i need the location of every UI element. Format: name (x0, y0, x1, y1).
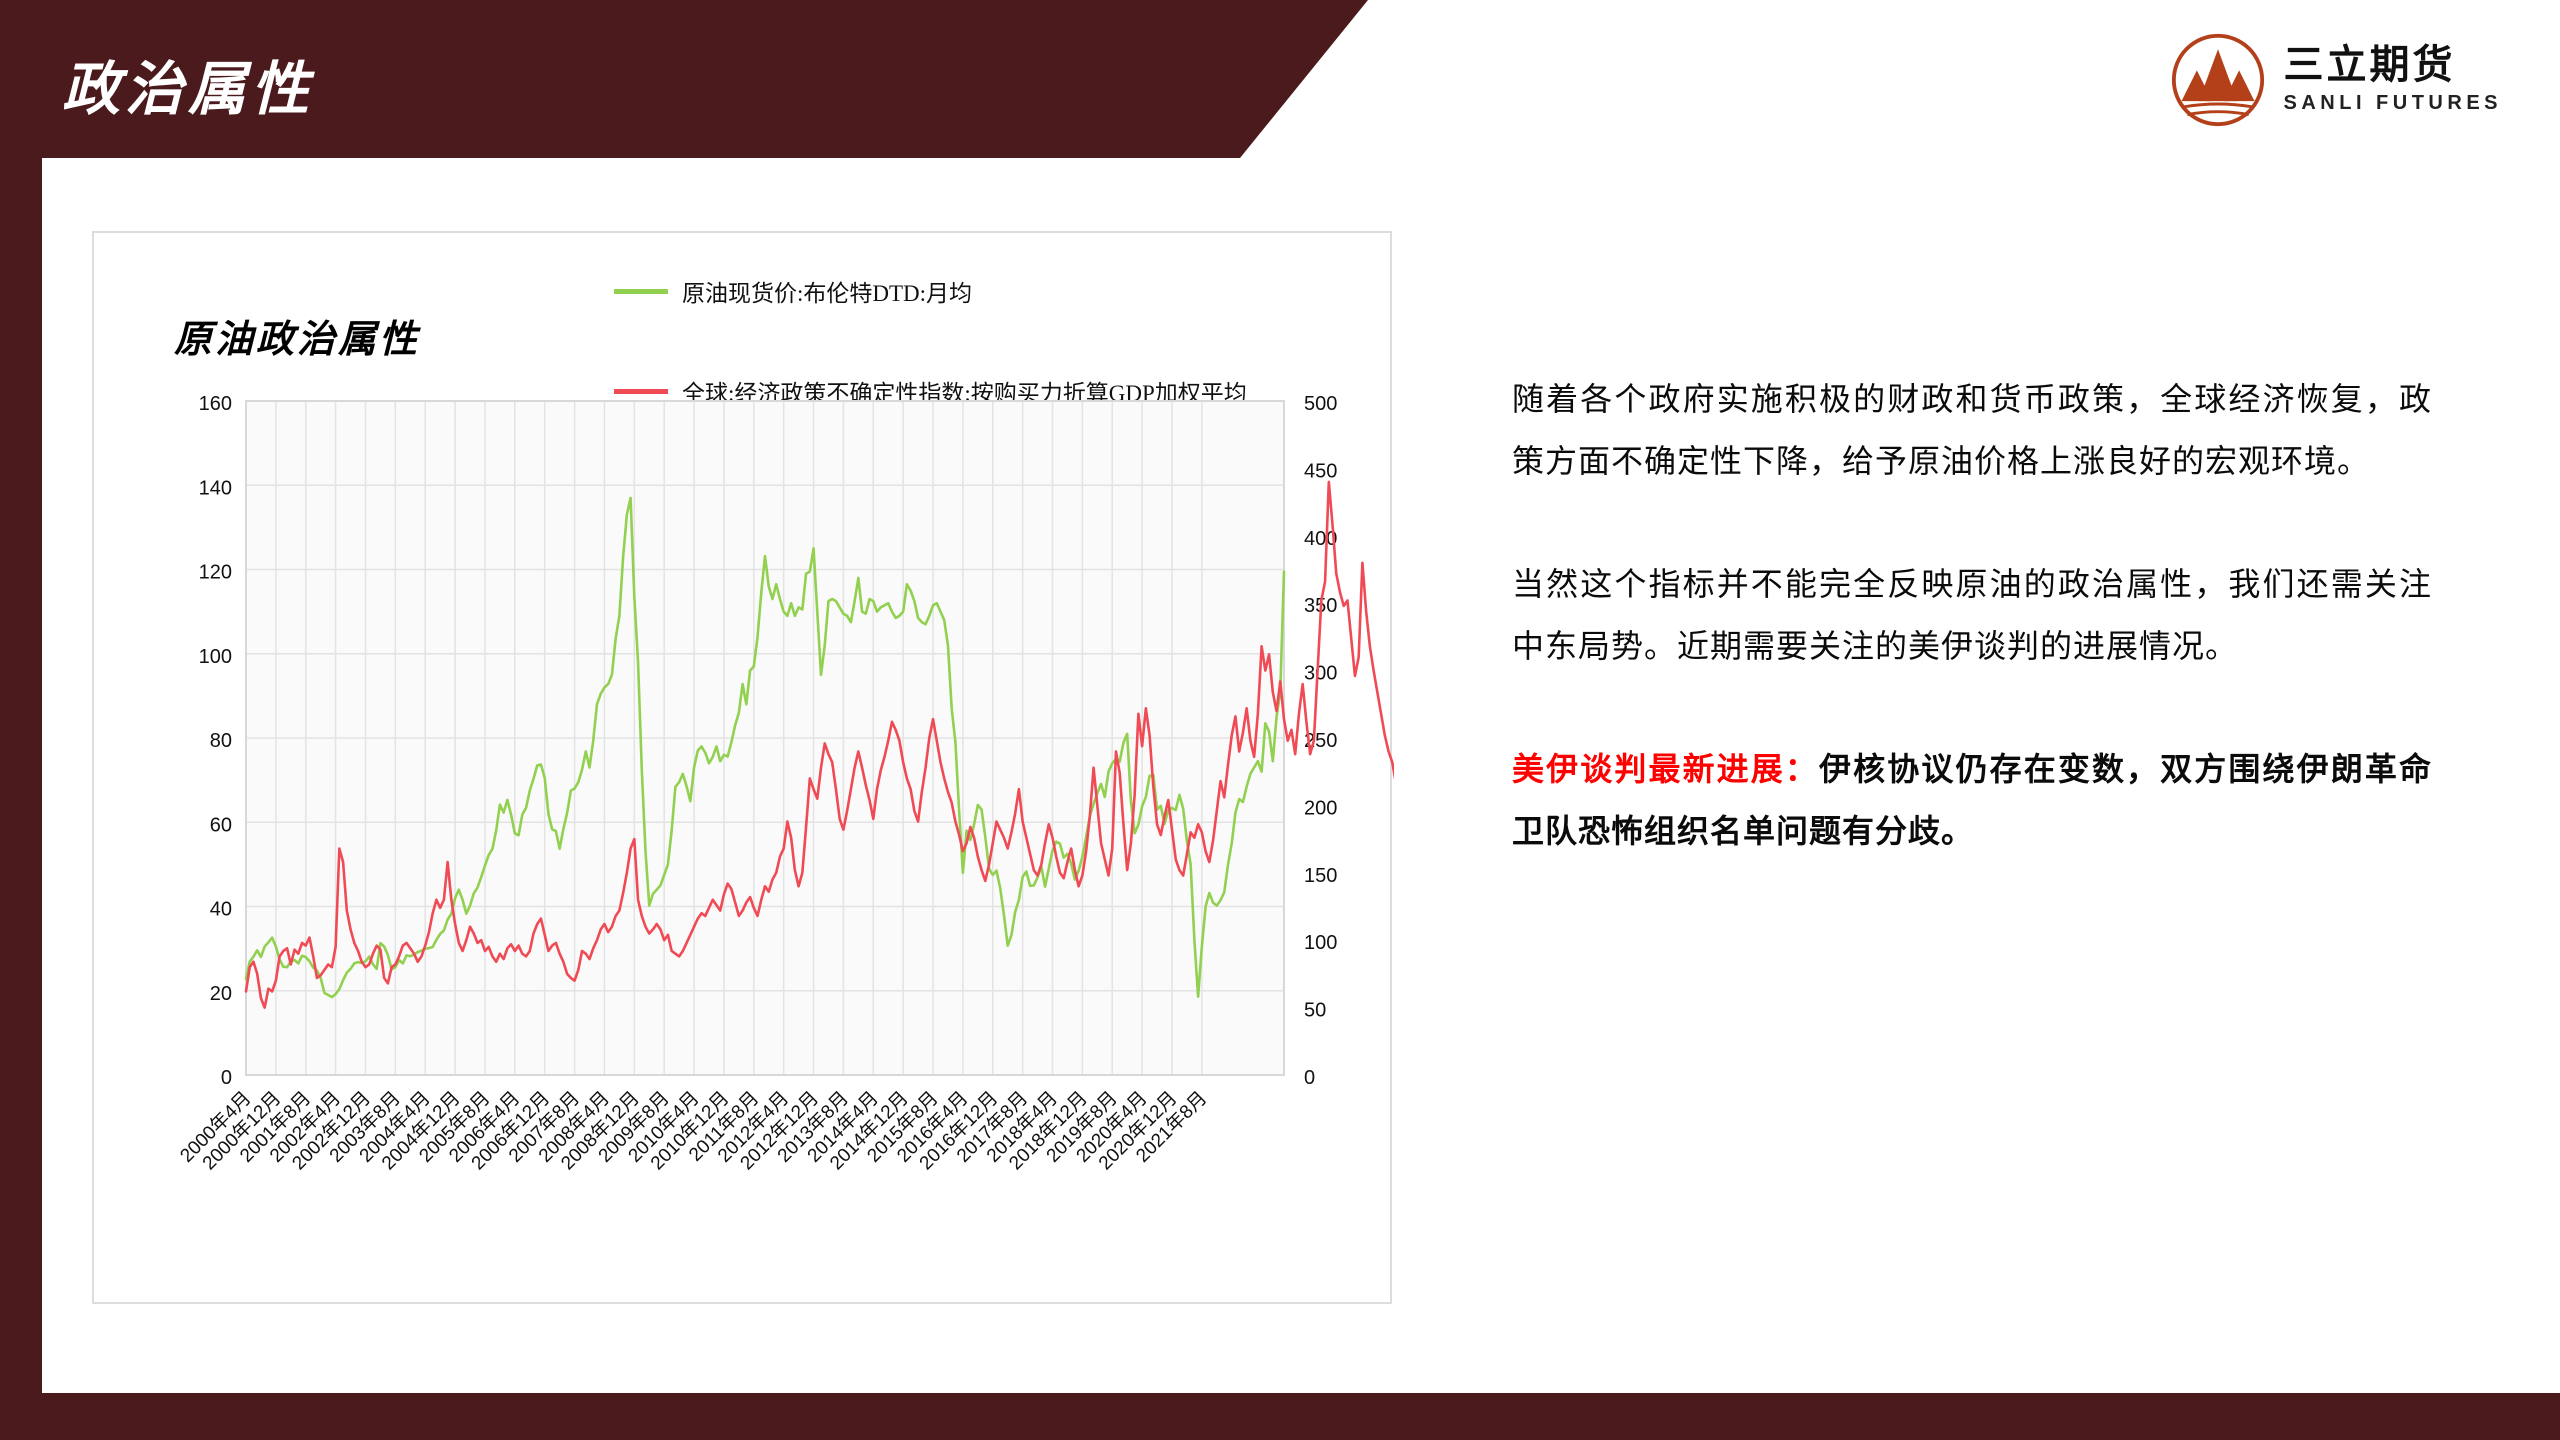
svg-text:0: 0 (1304, 1067, 1315, 1089)
svg-text:200: 200 (1304, 797, 1337, 819)
legend-label-brent: 原油现货价:布伦特DTD:月均 (682, 274, 972, 308)
negotiation-label: 美伊谈判最新进展： (1512, 751, 1819, 787)
svg-text:140: 140 (199, 477, 232, 499)
commentary-column: 随着各个政府实施积极的财政和货币政策，全球经济恢复，政策方面不确定性下降，给予原… (1512, 368, 2432, 862)
svg-text:300: 300 (1304, 663, 1337, 685)
svg-text:100: 100 (1304, 932, 1337, 954)
mountain-circle-logo-icon (2170, 32, 2266, 128)
chart-plot-area: 0204060801001201401600501001502002503003… (94, 383, 1394, 1303)
brand-logo: 三立期货 SANLI FUTURES (2170, 28, 2503, 132)
paragraph-politics: 当然这个指标并不能完全反映原油的政治属性，我们还需关注中东局势。近期需要关注的美… (1512, 553, 2432, 678)
svg-text:40: 40 (210, 899, 232, 921)
slide-root: 政治属性 三立期货 SANLI FUTURES 原油政治属性 原油现货价:布伦特… (0, 0, 2560, 1440)
chart-card: 原油政治属性 原油现货价:布伦特DTD:月均 全球:经济政策不确定性指数:按购买… (92, 231, 1392, 1304)
paragraph-macro: 随着各个政府实施积极的财政和货币政策，全球经济恢复，政策方面不确定性下降，给予原… (1512, 368, 2432, 493)
svg-text:100: 100 (199, 646, 232, 668)
legend-item-brent: 原油现货价:布伦特DTD:月均 (614, 265, 1354, 317)
logo-name-cn: 三立期货 (2284, 44, 2503, 87)
page-title: 政治属性 (62, 42, 314, 126)
logo-name-en: SANLI FUTURES (2284, 90, 2503, 116)
paragraph-negotiation: 美伊谈判最新进展：伊核协议仍存在变数，双方围绕伊朗革命卫队恐怖组织名单问题有分歧… (1512, 738, 2432, 863)
svg-text:0: 0 (221, 1067, 232, 1089)
svg-text:80: 80 (210, 730, 232, 752)
logo-text-block: 三立期货 SANLI FUTURES (2284, 44, 2503, 116)
svg-text:450: 450 (1304, 460, 1337, 482)
svg-text:20: 20 (210, 983, 232, 1005)
svg-text:120: 120 (199, 562, 232, 584)
svg-text:60: 60 (210, 814, 232, 836)
chart-title: 原油政治属性 (174, 308, 420, 363)
svg-text:50: 50 (1304, 1000, 1326, 1022)
page-body: 原油政治属性 原油现货价:布伦特DTD:月均 全球:经济政策不确定性指数:按购买… (42, 158, 2560, 1393)
svg-text:160: 160 (199, 393, 232, 415)
chart-svg: 0204060801001201401600501001502002503003… (94, 383, 1394, 1303)
svg-text:150: 150 (1304, 865, 1337, 887)
legend-swatch-brent (614, 289, 668, 294)
svg-text:500: 500 (1304, 393, 1337, 415)
